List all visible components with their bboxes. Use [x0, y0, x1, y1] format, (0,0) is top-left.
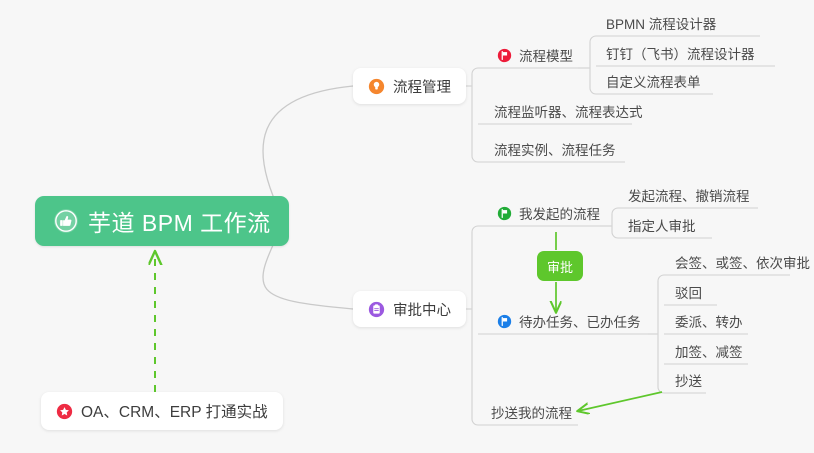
location-pin-icon — [368, 78, 385, 95]
node-label-process-listener: 流程监听器、流程表达式 — [494, 101, 643, 121]
node-bpmn-designer[interactable]: BPMN 流程设计器 — [602, 10, 720, 36]
node-label-start-cancel-flow: 发起流程、撤销流程 — [628, 185, 750, 205]
node-custom-form[interactable]: 自定义流程表单 — [602, 68, 705, 94]
edges-todo-done — [648, 275, 790, 393]
node-label-process-model: 流程模型 — [519, 45, 573, 65]
branch-node-approval-center[interactable]: 审批中心 — [353, 291, 466, 327]
node-label-reject: 驳回 — [675, 282, 702, 302]
footnote-label: OA、CRM、ERP 打通实战 — [81, 400, 268, 422]
node-label-dingtalk-designer: 钉钉（飞书）流程设计器 — [606, 43, 755, 63]
arrow-cc-to-cc-flow — [578, 392, 662, 411]
node-dingtalk-designer[interactable]: 钉钉（飞书）流程设计器 — [602, 40, 759, 66]
node-label-countersign: 会签、或签、依次审批 — [675, 252, 810, 272]
flag-icon-green — [497, 206, 512, 221]
edge-spine-model — [590, 36, 596, 94]
thumbs-up-icon — [53, 208, 79, 234]
approval-badge[interactable]: 审批 — [537, 251, 583, 281]
edge-spine-pm — [472, 68, 478, 162]
edge-spine-td — [658, 275, 664, 393]
node-assignee-approval[interactable]: 指定人审批 — [624, 212, 700, 238]
footnote-node[interactable]: OA、CRM、ERP 打通实战 — [41, 392, 283, 430]
edge-root-to-process-management — [263, 86, 353, 214]
mindmap-canvas: 芋道 BPM 工作流 流程管理 流程模型 BPMN 流程设计器 钉钉（飞书）流程… — [0, 0, 814, 453]
node-label-assignee-approval: 指定人审批 — [628, 215, 696, 235]
node-label-add-remove-sign: 加签、减签 — [675, 341, 743, 361]
edge-spine-mi — [612, 208, 618, 238]
node-my-initiated[interactable]: 我发起的流程 — [493, 200, 604, 226]
edge-spine-ac — [472, 226, 478, 425]
node-delegate-transfer[interactable]: 委派、转办 — [671, 308, 747, 334]
node-label-bpmn-designer: BPMN 流程设计器 — [606, 13, 716, 33]
node-add-remove-sign[interactable]: 加签、减签 — [671, 338, 747, 364]
root-node[interactable]: 芋道 BPM 工作流 — [35, 196, 289, 246]
node-process-listener[interactable]: 流程监听器、流程表达式 — [490, 98, 647, 124]
node-process-instance[interactable]: 流程实例、流程任务 — [490, 136, 620, 162]
approval-badge-label: 审批 — [547, 257, 573, 276]
node-label-cc: 抄送 — [675, 370, 702, 390]
root-node-label: 芋道 BPM 工作流 — [88, 204, 271, 238]
node-todo-done-tasks[interactable]: 待办任务、已办任务 — [493, 308, 645, 334]
node-cc-to-me[interactable]: 抄送我的流程 — [487, 399, 576, 425]
flag-icon-blue — [497, 314, 512, 329]
node-start-cancel-flow[interactable]: 发起流程、撤销流程 — [624, 182, 754, 208]
branch-node-process-management[interactable]: 流程管理 — [353, 68, 466, 104]
node-label-process-instance: 流程实例、流程任务 — [494, 139, 616, 159]
clipboard-icon-purple — [368, 301, 385, 318]
branch-label-process-management: 流程管理 — [393, 76, 451, 97]
node-label-cc-to-me: 抄送我的流程 — [491, 402, 572, 422]
node-reject[interactable]: 驳回 — [671, 279, 706, 305]
branch-label-approval-center: 审批中心 — [393, 299, 451, 320]
node-cc[interactable]: 抄送 — [671, 367, 706, 393]
node-countersign[interactable]: 会签、或签、依次审批 — [671, 249, 814, 275]
node-label-delegate-transfer: 委派、转办 — [675, 311, 743, 331]
flag-icon-red — [497, 48, 512, 63]
node-process-model[interactable]: 流程模型 — [493, 42, 577, 68]
node-label-todo-done-tasks: 待办任务、已办任务 — [519, 311, 641, 331]
node-label-my-initiated: 我发起的流程 — [519, 203, 600, 223]
star-icon-red — [56, 403, 73, 420]
node-label-custom-form: 自定义流程表单 — [606, 71, 701, 91]
